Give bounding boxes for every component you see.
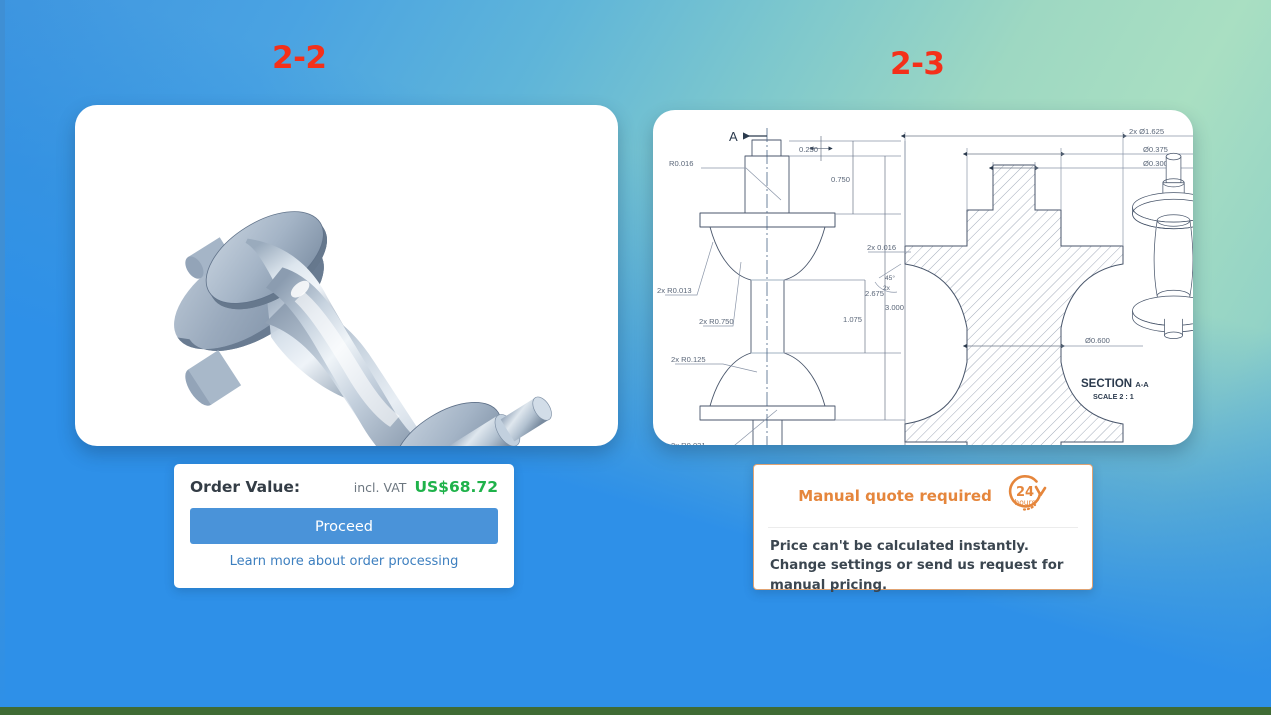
left-edge-strip xyxy=(0,0,5,715)
technical-drawing-card[interactable]: A A R0.016 2x R0.013 2x R0.750 2x R0.125… xyxy=(653,110,1193,445)
slide-canvas: 2-2 2-3 xyxy=(0,0,1271,715)
svg-text:R0.016: R0.016 xyxy=(669,159,694,168)
svg-text:2x: 2x xyxy=(883,285,891,292)
svg-text:2x R0.013: 2x R0.013 xyxy=(657,286,692,295)
model-preview-card[interactable] xyxy=(75,105,618,446)
step-label-2-3: 2-3 xyxy=(890,46,945,82)
24-hours-badge-icon: 24 hours xyxy=(1002,471,1048,522)
svg-text:SCALE 2 : 1: SCALE 2 : 1 xyxy=(1093,392,1134,401)
technical-drawing: A A R0.016 2x R0.013 2x R0.750 2x R0.125… xyxy=(653,110,1193,445)
order-amount: US$68.72 xyxy=(414,478,498,496)
order-value-label: Order Value: xyxy=(190,478,300,496)
svg-text:45°: 45° xyxy=(885,274,895,282)
svg-text:Ø0.300: Ø0.300 xyxy=(1143,159,1168,168)
svg-text:2x 0.016: 2x 0.016 xyxy=(867,243,896,252)
section-title: SECTION A-A xyxy=(1081,378,1149,390)
svg-text:A: A xyxy=(729,129,738,144)
order-value-amount-group: incl. VAT US$68.72 xyxy=(354,478,498,496)
learn-more-link[interactable]: Learn more about order processing xyxy=(174,554,514,569)
order-value-card: Order Value: incl. VAT US$68.72 Proceed … xyxy=(174,464,514,588)
svg-text:Ø0.375: Ø0.375 xyxy=(1143,145,1168,154)
proceed-button[interactable]: Proceed xyxy=(190,508,498,544)
svg-text:0.750: 0.750 xyxy=(831,175,850,184)
svg-text:Ø0.600: Ø0.600 xyxy=(1085,336,1110,345)
manual-quote-header: Manual quote required 24 hours xyxy=(754,465,1092,527)
step-label-2-2: 2-2 xyxy=(272,40,327,76)
svg-text:1.075: 1.075 xyxy=(843,315,862,324)
svg-text:2x R0.031: 2x R0.031 xyxy=(671,441,706,445)
order-value-row: Order Value: incl. VAT US$68.72 xyxy=(174,464,514,498)
manual-quote-card: Manual quote required 24 hours Price can… xyxy=(753,464,1093,590)
svg-text:3.000: 3.000 xyxy=(885,303,904,312)
svg-text:2x R0.750: 2x R0.750 xyxy=(699,317,734,326)
svg-text:2x Ø1.625: 2x Ø1.625 xyxy=(1129,127,1164,136)
svg-text:2.675: 2.675 xyxy=(865,289,884,298)
bottom-bar xyxy=(0,707,1271,715)
badge-unit-text: hours xyxy=(1014,498,1035,507)
manual-quote-body: Price can't be calculated instantly. Cha… xyxy=(754,528,1092,595)
svg-text:2x R0.125: 2x R0.125 xyxy=(671,355,706,364)
svg-text:0.250: 0.250 xyxy=(799,145,818,154)
vat-note: incl. VAT xyxy=(354,480,407,495)
manual-quote-title: Manual quote required xyxy=(798,487,992,505)
spool-shaft-3d-render-main xyxy=(75,105,618,446)
